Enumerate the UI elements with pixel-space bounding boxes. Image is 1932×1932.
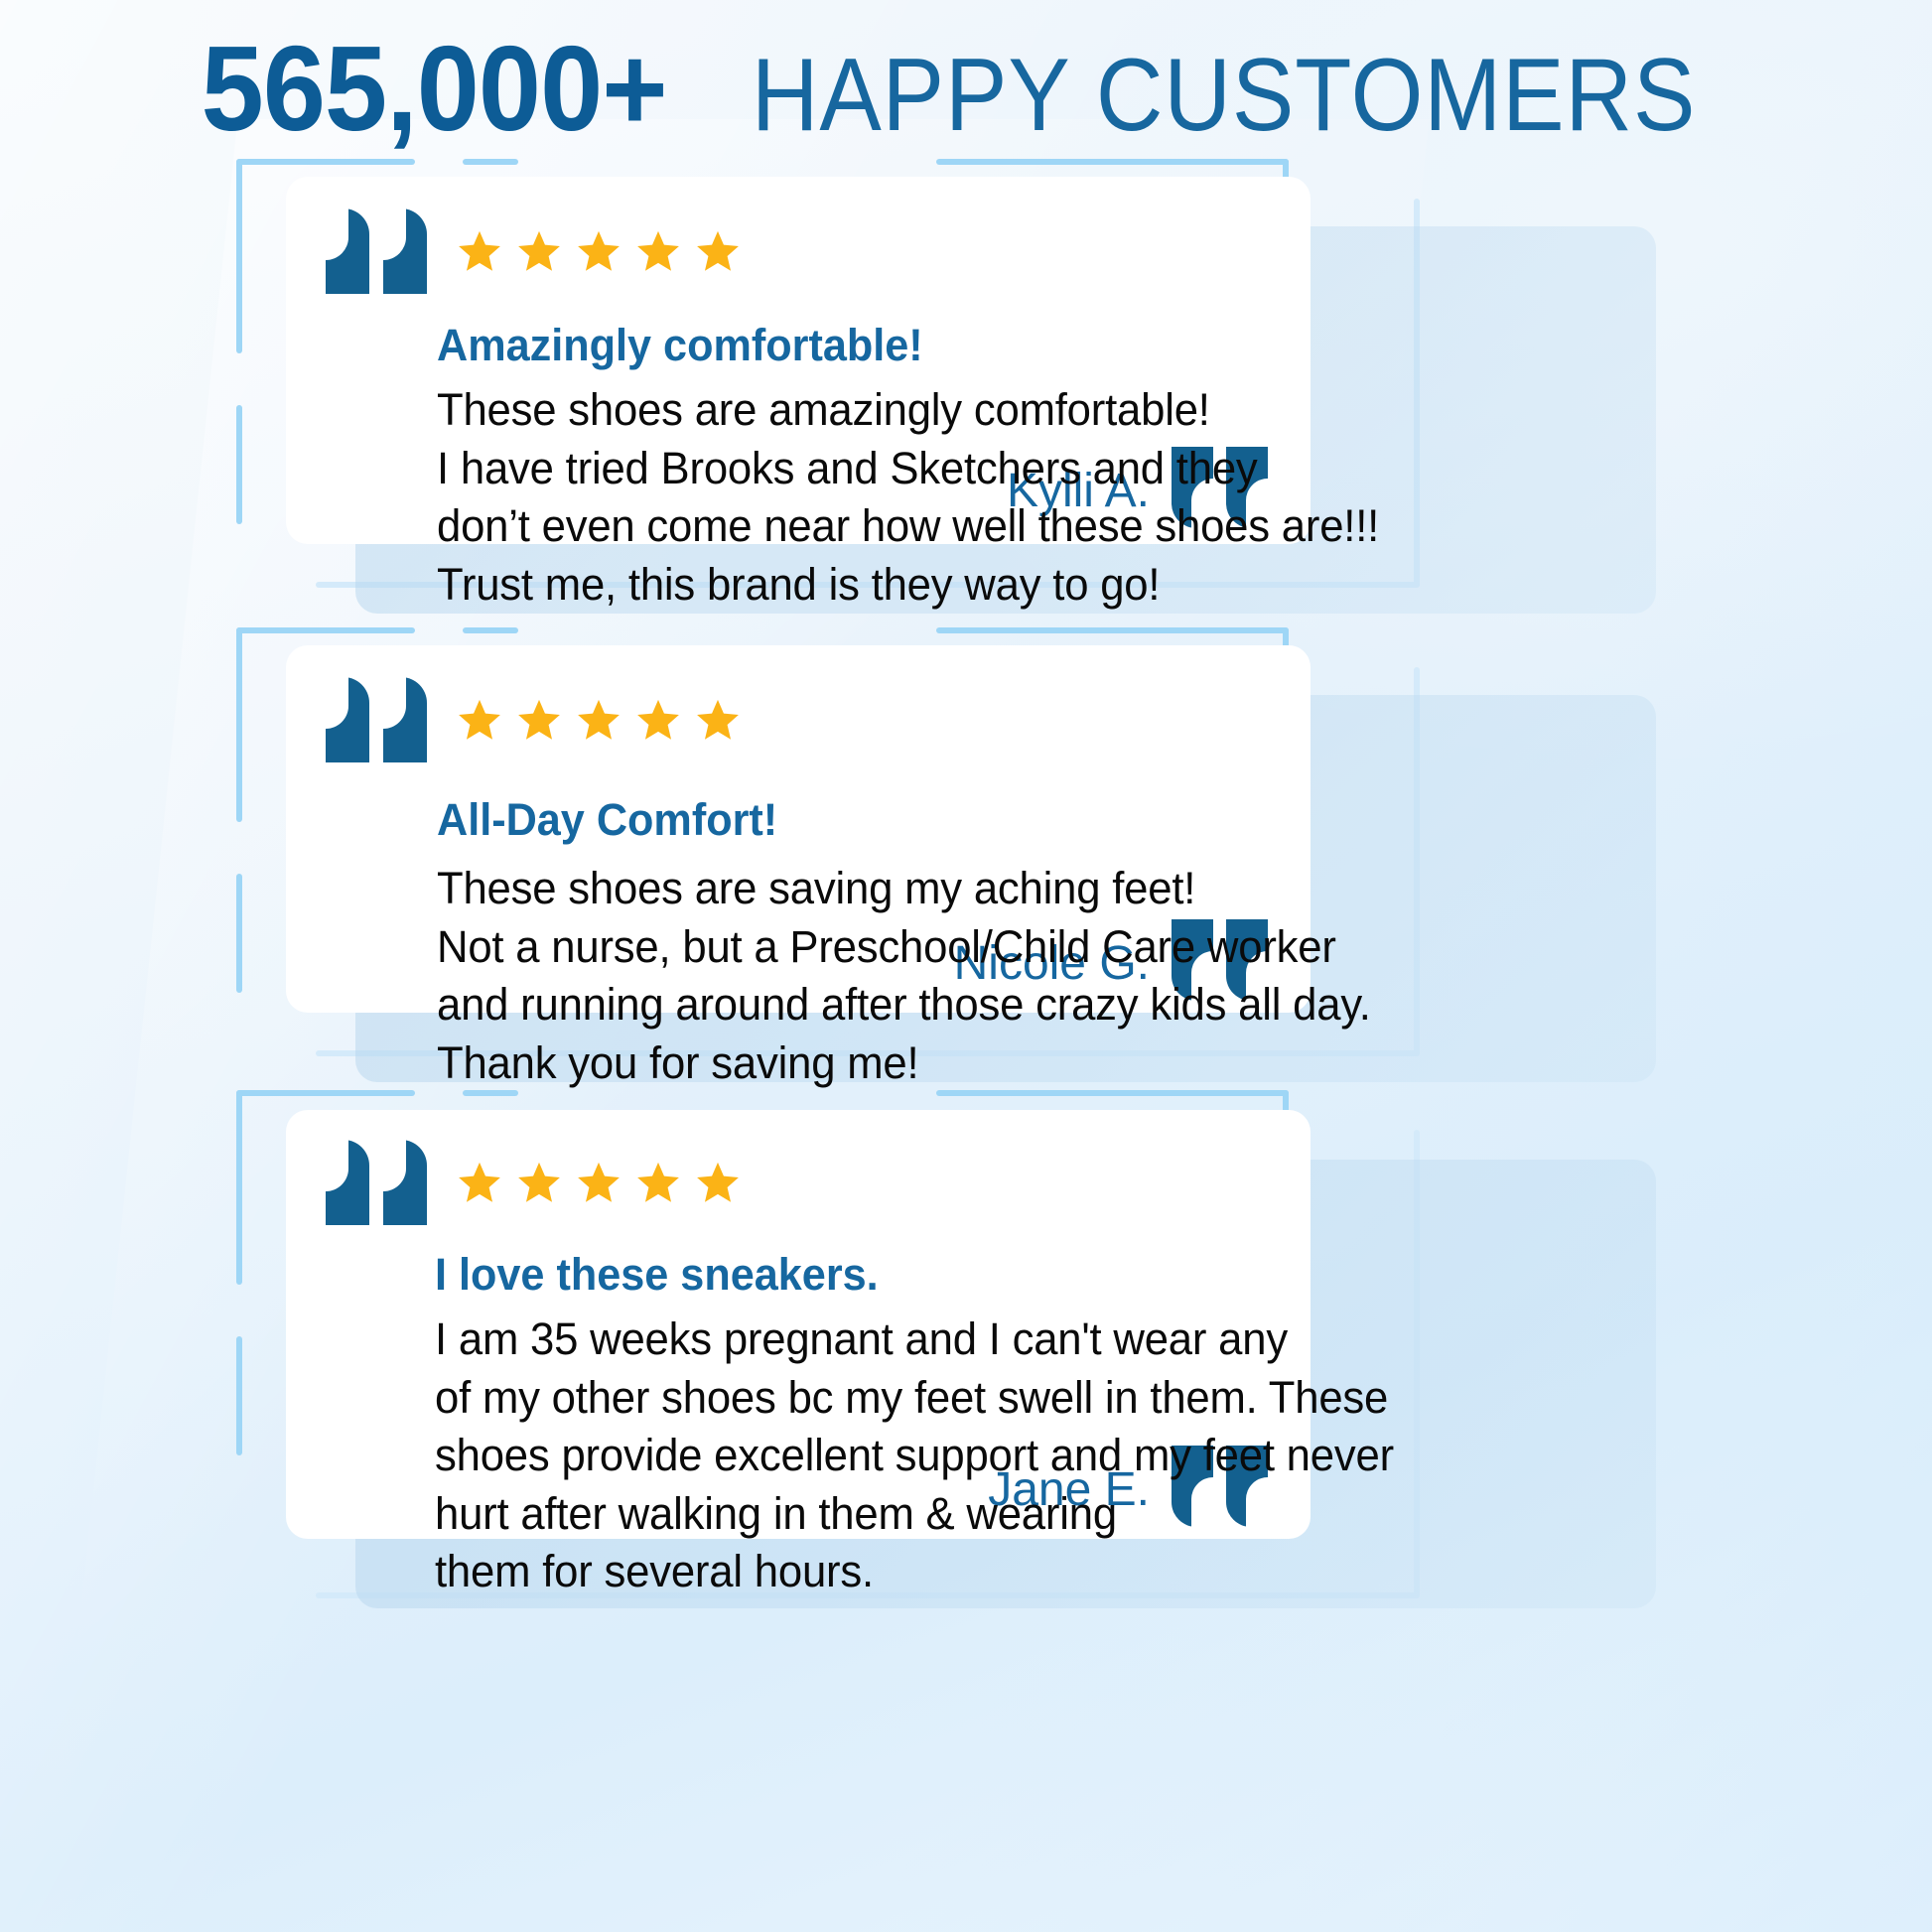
star-icon [457, 1160, 502, 1205]
testimonial-line: Not a nurse, but a Preschool/Child Care … [437, 918, 1246, 977]
testimonial-line: Trust me, this brand is they way to go! [437, 556, 1246, 615]
star-icon [457, 697, 502, 743]
testimonial-headline: All-Day Comfort! [437, 794, 1237, 846]
testimonial-line: hurt after walking in them & wearing [435, 1485, 1246, 1544]
frame-line-left-dash [236, 405, 242, 524]
frame-line-left [236, 1090, 242, 1285]
star-icon [576, 1160, 621, 1205]
testimonial-line: These shoes are saving my aching feet! [437, 860, 1246, 918]
testimonial-line: don’t even come near how well these shoe… [437, 497, 1246, 556]
testimonial-line: shoes provide excellent support and my f… [435, 1427, 1246, 1485]
star-icon [516, 1160, 562, 1205]
testimonial-body: These shoes are amazingly comfortable! I… [437, 381, 1246, 614]
testimonial-line: Thank you for saving me! [437, 1035, 1246, 1093]
quote-open-icon [326, 208, 431, 294]
frame-line-top-left [236, 627, 415, 633]
star-icon [695, 697, 741, 743]
page-title: 565,000+HAPPY CUSTOMERS [0, 28, 1932, 149]
frame-line-left-dash [236, 874, 242, 993]
testimonial-headline: Amazingly comfortable! [437, 320, 1237, 371]
star-icon [695, 1160, 741, 1205]
customer-count: 565,000+ [202, 28, 667, 149]
rating-row [326, 208, 1271, 294]
frame-line-left [236, 627, 242, 822]
testimonial-card-2: All-Day Comfort! These shoes are saving … [286, 645, 1311, 1013]
testimonial-card-3: I love these sneakers. I am 35 weeks pre… [286, 1110, 1311, 1539]
star-icon [695, 228, 741, 274]
testimonial-headline: I love these sneakers. [435, 1249, 1237, 1301]
testimonial-body: I am 35 weeks pregnant and I can't wear … [435, 1311, 1246, 1601]
frame-line-top-dash [463, 627, 518, 633]
star-icon [635, 228, 681, 274]
frame-line-top-left [236, 159, 415, 165]
star-icon [457, 228, 502, 274]
testimonial-line: them for several hours. [435, 1543, 1246, 1601]
testimonial-line: and running around after those crazy kid… [437, 976, 1246, 1035]
testimonial-line: These shoes are amazingly comfortable! [437, 381, 1246, 440]
rating-row [326, 1140, 1271, 1225]
rating-row [326, 677, 1271, 762]
customer-count-label: HAPPY CUSTOMERS [751, 44, 1695, 147]
quote-open-icon [326, 677, 431, 762]
star-icon [635, 1160, 681, 1205]
star-icon [576, 228, 621, 274]
quote-open-icon [326, 1140, 431, 1225]
testimonial-line: I have tried Brooks and Sketchers and th… [437, 440, 1246, 498]
frame-line-left-dash [236, 1336, 242, 1455]
star-icon [576, 697, 621, 743]
frame-line-left [236, 159, 242, 353]
testimonial-body: These shoes are saving my aching feet! N… [437, 860, 1246, 1092]
star-icon [516, 228, 562, 274]
star-rating [457, 697, 741, 743]
star-rating [457, 1160, 741, 1205]
frame-line-top-dash [463, 159, 518, 165]
star-icon [635, 697, 681, 743]
testimonial-card-1: Amazingly comfortable! These shoes are a… [286, 177, 1311, 544]
testimonial-line: of my other shoes bc my feet swell in th… [435, 1369, 1246, 1428]
star-rating [457, 228, 741, 274]
star-icon [516, 697, 562, 743]
testimonial-line: I am 35 weeks pregnant and I can't wear … [435, 1311, 1246, 1369]
frame-line-top-right [936, 627, 1289, 633]
frame-line-top-right [936, 159, 1289, 165]
